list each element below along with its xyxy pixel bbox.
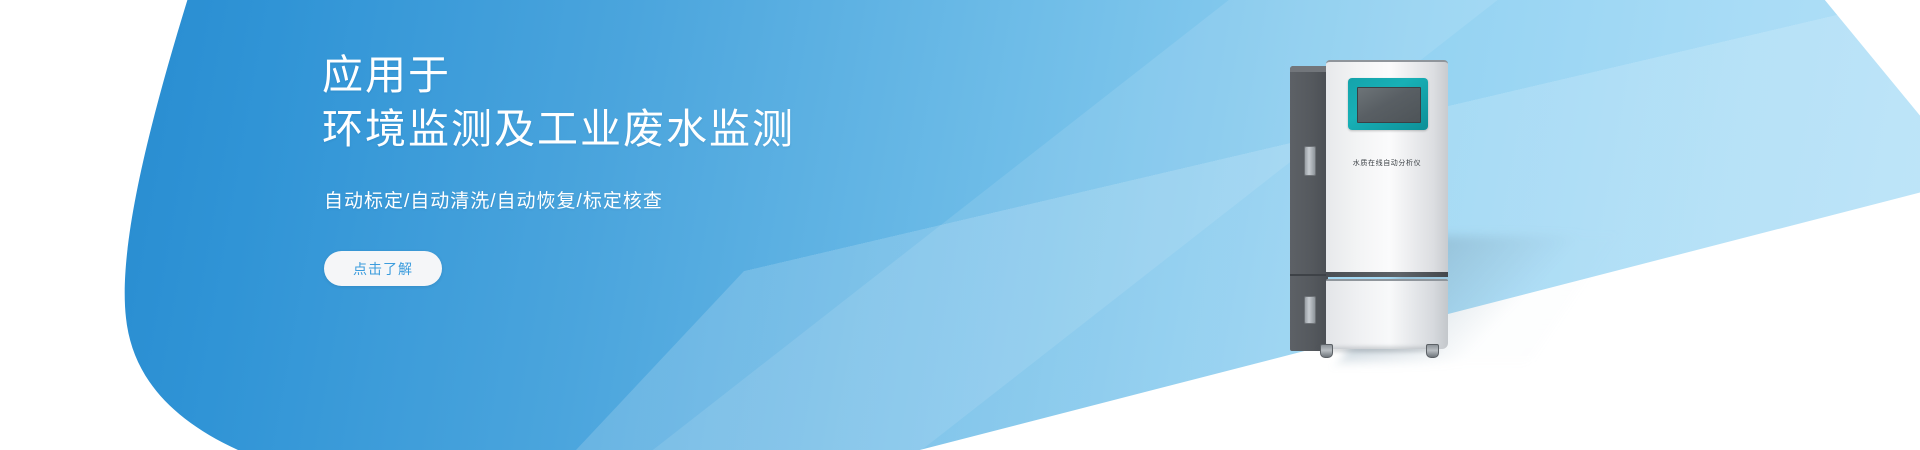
learn-more-button[interactable]: 点击了解	[324, 251, 442, 286]
product-label: 水质在线自动分析仪	[1326, 158, 1448, 168]
caster-wheel-icon-left	[1320, 344, 1333, 358]
door-handle-icon-upper	[1304, 146, 1316, 176]
cabinet-side-top-edge	[1290, 66, 1328, 72]
product-image-water-analyzer: 水质在线自动分析仪	[1290, 58, 1510, 358]
headline-line-1: 应用于	[322, 48, 795, 102]
subtitle: 自动标定/自动清洗/自动恢复/标定核查	[324, 186, 663, 213]
cabinet-base-shadow	[1318, 347, 1440, 352]
headline-line-2: 环境监测及工业废水监测	[322, 102, 795, 156]
banner-content: 应用于 环境监测及工业废水监测 自动标定/自动清洗/自动恢复/标定核查 点击了解	[322, 0, 1022, 450]
headline: 应用于 环境监测及工业废水监测	[322, 48, 795, 156]
cabinet-mid-divider	[1326, 272, 1448, 277]
display-glass	[1357, 87, 1421, 123]
caster-wheel-icon-right	[1426, 344, 1439, 358]
cabinet-side-seam	[1290, 274, 1328, 276]
hero-banner: 应用于 环境监测及工业废水监测 自动标定/自动清洗/自动恢复/标定核查 点击了解…	[0, 0, 1920, 450]
display-screen-icon	[1348, 78, 1428, 130]
cabinet-lower-door	[1326, 279, 1448, 349]
door-handle-icon-lower	[1304, 296, 1316, 324]
